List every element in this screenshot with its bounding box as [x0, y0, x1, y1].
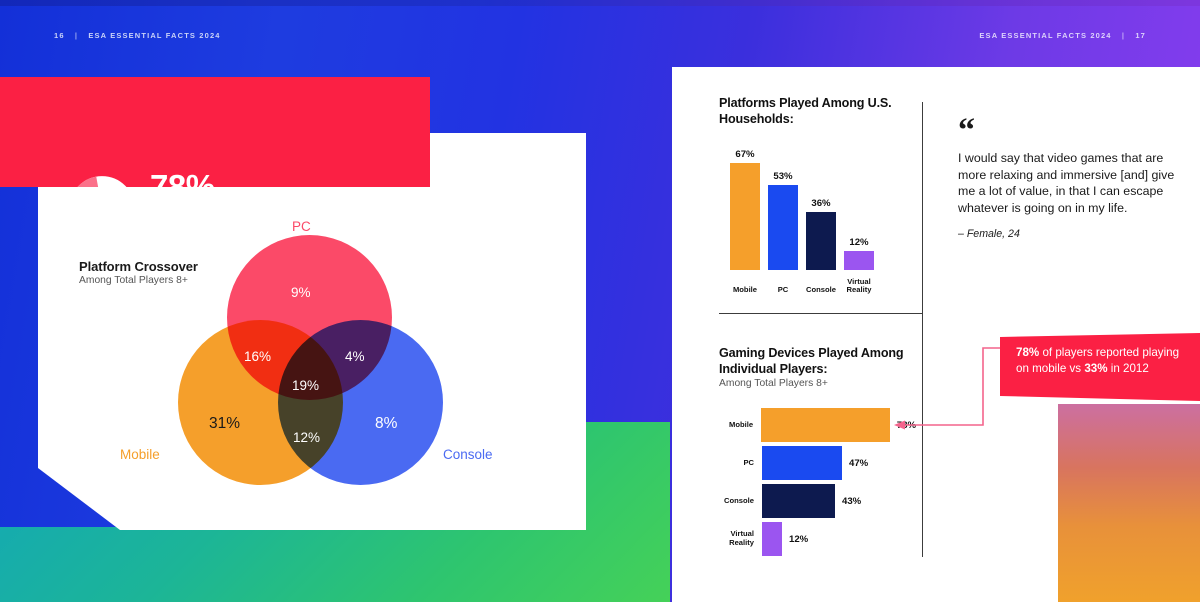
- platforms-bar-label: Mobile: [726, 286, 764, 295]
- header-left-title: ESA ESSENTIAL FACTS 2024: [88, 31, 220, 40]
- devices-bar-label: VirtualReality: [716, 530, 762, 547]
- venn-label-pc: PC: [292, 219, 311, 234]
- venn-label-console: Console: [443, 447, 493, 462]
- devices-bar-rect: [762, 446, 842, 480]
- devices-section-subtitle: Among Total Players 8+: [719, 378, 828, 389]
- platforms-bar-rect: [768, 185, 798, 270]
- venn-circle-console: [278, 320, 443, 485]
- header-left-page-number: 16: [54, 31, 65, 40]
- platforms-bar-console: 36%: [806, 198, 836, 270]
- header-left-separator: |: [68, 31, 85, 40]
- platforms-bar-label: Console: [802, 286, 840, 295]
- platforms-bar-label: PC: [764, 286, 802, 295]
- venn-value-mobile-console: 12%: [293, 430, 320, 445]
- venn-value-pc-console: 4%: [345, 349, 365, 364]
- platforms-bar-rect: [806, 212, 836, 270]
- quote-block: “ I would say that video games that are …: [958, 120, 1182, 240]
- venn-value-pc-only: 9%: [291, 285, 311, 300]
- platforms-bar-rect: [844, 251, 874, 270]
- households-banner: 78% of U.S. Households have played at le…: [0, 77, 430, 187]
- infographic-page: 16 | ESA ESSENTIAL FACTS 2024 ESA ESSENT…: [0, 0, 1200, 602]
- header-top-strip: [0, 0, 1200, 6]
- header-right-page-number: 17: [1135, 31, 1146, 40]
- platforms-bar-virtual-reality: 12%: [844, 237, 874, 270]
- platforms-bar-value: 12%: [849, 237, 868, 248]
- devices-bar-pc: PC47%: [716, 446, 916, 480]
- platforms-bar-value: 36%: [811, 198, 830, 209]
- venn-label-mobile: Mobile: [120, 447, 160, 462]
- horizontal-divider: [719, 313, 923, 314]
- orange-accent-shape: [1058, 404, 1200, 602]
- quote-mark-icon: “: [958, 120, 1182, 141]
- platforms-section-title: Platforms Played Among U.S. Households:: [719, 95, 919, 127]
- callout-connector-line: [880, 330, 1015, 440]
- devices-bar-rect: [762, 484, 835, 518]
- devices-bar-label: PC: [716, 459, 762, 468]
- platforms-bar-label: VirtualReality: [840, 278, 878, 295]
- devices-bar-label: Mobile: [716, 421, 761, 430]
- devices-bar-value: 47%: [842, 458, 868, 469]
- venn-value-pc-mobile: 16%: [244, 349, 271, 364]
- platforms-bar-pc: 53%: [768, 171, 798, 270]
- platforms-bar-rect: [730, 163, 760, 270]
- platforms-bar-value: 53%: [773, 171, 792, 182]
- quote-attribution: – Female, 24: [958, 228, 1182, 240]
- header-left: 16 | ESA ESSENTIAL FACTS 2024: [54, 31, 221, 40]
- platforms-bar-chart: 67%Mobile53%PC36%Console12%VirtualRealit…: [716, 150, 876, 295]
- callout-text: 78% of players reported playing on mobil…: [1000, 333, 1200, 377]
- venn-value-mobile-only: 31%: [209, 415, 240, 433]
- venn-diagram: [170, 235, 460, 500]
- devices-bar-label: Console: [716, 497, 762, 506]
- header-right-title: ESA ESSENTIAL FACTS 2024: [979, 31, 1111, 40]
- quote-text: I would say that video games that are mo…: [958, 150, 1182, 216]
- platforms-bar-mobile: 67%: [730, 149, 760, 270]
- venn-value-all-three: 19%: [292, 378, 319, 393]
- devices-bar-rect: [762, 522, 782, 556]
- devices-bar-value: 12%: [782, 534, 808, 545]
- devices-bar-console: Console43%: [716, 484, 916, 518]
- header-right: ESA ESSENTIAL FACTS 2024 | 17: [979, 31, 1146, 40]
- devices-bar-value: 43%: [835, 496, 861, 507]
- venn-value-console-only: 8%: [375, 415, 397, 433]
- mobile-stat-callout: 78% of players reported playing on mobil…: [1000, 333, 1200, 401]
- devices-bar-virtual-reality: VirtualReality12%: [716, 522, 916, 556]
- platforms-bar-value: 67%: [735, 149, 754, 160]
- devices-bar-rect: [761, 408, 890, 442]
- header-right-separator: |: [1115, 31, 1132, 40]
